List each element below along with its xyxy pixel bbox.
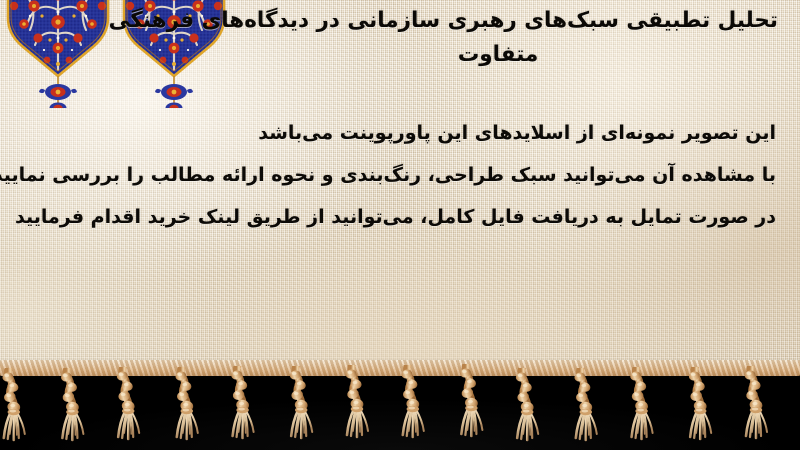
bottom-black-band bbox=[0, 367, 800, 450]
slide-body-text: این تصویر نمونه‌ای از اسلایدهای این پاور… bbox=[24, 112, 776, 238]
persian-medallion-left-ornament bbox=[6, 0, 110, 112]
body-line-2: با مشاهده آن می‌توانید سبک طراحی، رنگ‌بن… bbox=[24, 154, 776, 196]
body-line-3: در صورت تمایل به دریافت فایل کامل، می‌تو… bbox=[24, 196, 776, 238]
body-line-1: این تصویر نمونه‌ای از اسلایدهای این پاور… bbox=[24, 112, 776, 154]
medallion-pendant bbox=[155, 76, 193, 108]
medallion-pendant bbox=[39, 76, 77, 108]
slide-title-line-1: تحلیل تطبیقی سبک‌های رهبری سازمانی در دی… bbox=[218, 4, 778, 38]
slide-title: تحلیل تطبیقی سبک‌های رهبری سازمانی در دی… bbox=[218, 4, 778, 72]
slide-title-line-2: متفاوت bbox=[218, 38, 778, 72]
carpet-selvedge-cord bbox=[0, 360, 800, 376]
slide-canvas: تحلیل تطبیقی سبک‌های رهبری سازمانی در دی… bbox=[0, 0, 800, 450]
